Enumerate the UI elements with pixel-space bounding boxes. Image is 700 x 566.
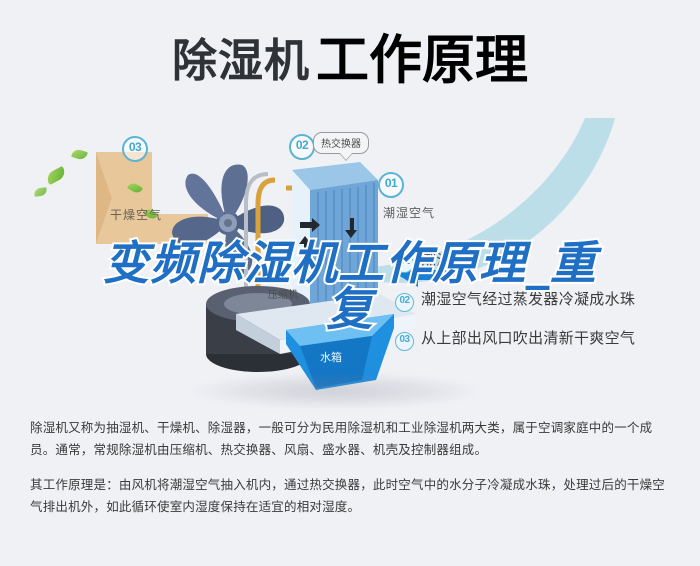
label-water-tank: 水箱 [320,349,342,365]
paragraph-2: 其工作原理是：由风机将潮湿空气抽入机内，通过热交换器，此时空气中的水分子冷凝成水… [30,475,675,518]
poster-page: 除湿机 工作原理 [0,0,700,566]
badge-01: 01 [378,172,404,198]
step-number: 02 [395,293,414,312]
article-body: 除湿机又称为抽湿机、干燥机、除湿器，一般可分为民用除湿机和工业除湿机两大类，属于… [30,418,675,518]
step-text: 潮湿空气经过蒸发器冷凝成水珠 [421,291,635,308]
badge-03: 03 [122,136,148,162]
dehumidifier-diagram: 03 02 01 热交换器 干燥空气 潮湿空气 压缩机 水箱 01 潮湿 02 … [0,118,700,408]
page-title-part2: 工作原理 [316,34,528,87]
step-item-02: 02 潮湿空气经过蒸发器冷凝成水珠 [395,291,695,312]
badge-02: 02 [289,134,315,160]
callout-heat-exchanger: 热交换器 [313,132,369,154]
page-title-part1: 除湿机 [172,38,310,83]
step-number: 03 [395,332,414,351]
ground-shadow [190,373,480,409]
step-text: 潮湿 [421,252,452,269]
heat-exchanger-coil [292,162,378,308]
step-number: 01 [395,254,414,273]
step-item-01: 01 潮湿 [395,252,695,273]
step-text: 从上部出风口吹出清新干爽空气 [421,330,635,347]
paragraph-1: 除湿机又称为抽湿机、干燥机、除湿器，一般可分为民用除湿机和工业除湿机两大类，属于… [30,418,675,461]
page-title: 除湿机 工作原理 [0,26,700,94]
label-dry-air: 干燥空气 [110,206,162,223]
label-humid-air: 潮湿空气 [383,204,435,221]
step-item-03: 03 从上部出风口吹出清新干爽空气 [395,330,695,351]
steps-list: 01 潮湿 02 潮湿空气经过蒸发器冷凝成水珠 03 从上部出风口吹出清新干爽空… [395,252,695,369]
label-compressor: 压缩机 [268,286,298,301]
